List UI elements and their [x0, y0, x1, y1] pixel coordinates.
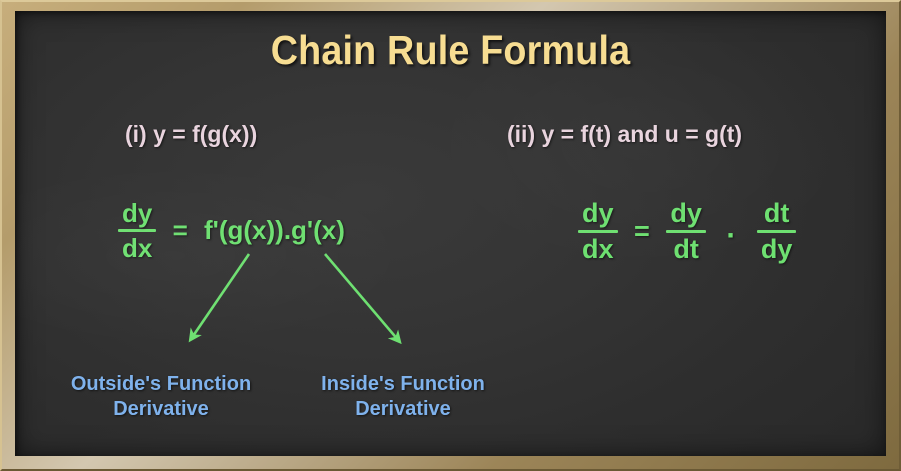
arrow-to-outside-label [191, 254, 249, 339]
annotation-outside-function-derivative: Outside's Function Derivative [37, 372, 285, 422]
fraction-dt-dy: dt dy [757, 200, 797, 263]
board-frame: Chain Rule Formula (i) y = f(g(x)) (ii) … [0, 0, 901, 471]
case-i-heading: (i) y = f(g(x)) [125, 121, 257, 148]
arrow-to-inside-label [325, 254, 399, 341]
chalkboard: Chain Rule Formula (i) y = f(g(x)) (ii) … [15, 11, 886, 456]
equals-sign: = [164, 215, 197, 246]
page-title: Chain Rule Formula [50, 27, 851, 74]
fraction-denominator: dy [757, 236, 797, 263]
fraction-bar [118, 229, 156, 232]
formula-case-ii: dy dx = dy dt · dt dy [578, 200, 796, 263]
fraction-bar [578, 230, 618, 233]
fraction-dy-dt: dy dt [666, 200, 706, 263]
fraction-denominator: dx [118, 235, 156, 261]
fraction-bar [757, 230, 797, 233]
fraction-dy-dx: dy dx [118, 200, 156, 261]
fraction-bar [666, 230, 706, 233]
fraction-numerator: dy [118, 200, 156, 226]
multiplication-dot: · [713, 230, 749, 242]
case-ii-heading: (ii) y = f(t) and u = g(t) [507, 121, 742, 148]
formula-case-i: dy dx = f'(g(x)).g'(x) [118, 200, 345, 261]
annotation-line-1: Outside's Function [37, 372, 285, 397]
fraction-numerator: dy [666, 200, 706, 227]
fraction-numerator: dy [578, 200, 618, 227]
formula-right-hand-side: f'(g(x)).g'(x) [204, 215, 345, 246]
equals-sign: = [625, 216, 659, 247]
annotation-line-2: Derivative [37, 397, 285, 422]
fraction-denominator: dx [578, 236, 618, 263]
annotation-inside-function-derivative: Inside's Function Derivative [287, 372, 519, 422]
annotation-line-1: Inside's Function [287, 372, 519, 397]
fraction-denominator: dt [666, 236, 706, 263]
annotation-line-2: Derivative [287, 397, 519, 422]
fraction-numerator: dt [757, 200, 797, 227]
fraction-dy-dx: dy dx [578, 200, 618, 263]
